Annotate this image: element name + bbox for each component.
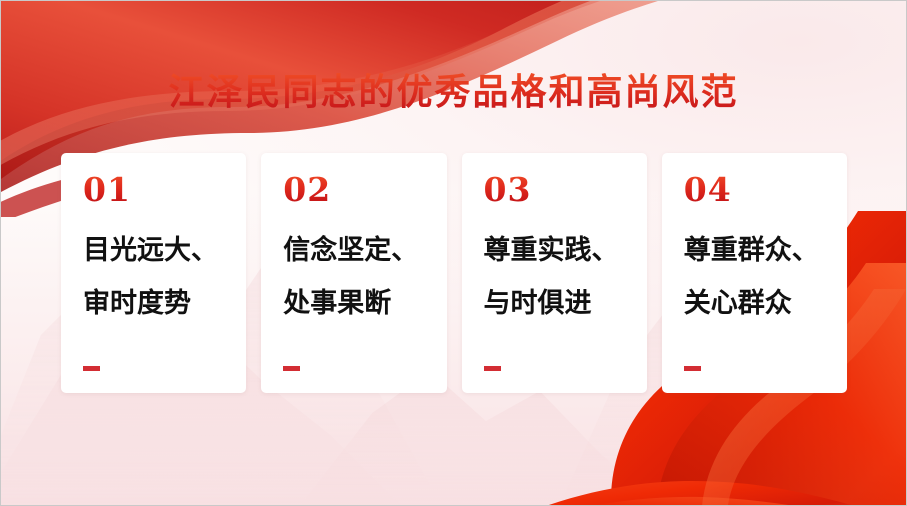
- card-number-01: 01: [83, 173, 246, 206]
- card-dash-01: [83, 366, 100, 371]
- card-dash-04: [684, 366, 701, 371]
- card-text-04: 尊重群众、 关心群众: [684, 224, 847, 330]
- card-dash-03: [484, 366, 501, 371]
- card-dash-02: [283, 366, 300, 371]
- card-number-04: 04: [684, 173, 847, 206]
- card-row: 01 目光远大、 审时度势 02 信念坚定、 处事果断 03 尊重实践、 与时俱…: [61, 153, 847, 393]
- card-text-02: 信念坚定、 处事果断: [283, 224, 446, 330]
- slide-canvas: 江泽民同志的优秀品格和高尚风范 01 目光远大、 审时度势 02 信念坚定、 处…: [0, 0, 907, 506]
- card-text-01: 目光远大、 审时度势: [83, 224, 246, 330]
- card-04[interactable]: 04 尊重群众、 关心群众: [662, 153, 847, 393]
- card-text-03: 尊重实践、 与时俱进: [484, 224, 647, 330]
- card-03[interactable]: 03 尊重实践、 与时俱进: [462, 153, 647, 393]
- card-02[interactable]: 02 信念坚定、 处事果断: [261, 153, 446, 393]
- page-title: 江泽民同志的优秀品格和高尚风范: [1, 73, 906, 113]
- card-01[interactable]: 01 目光远大、 审时度势: [61, 153, 246, 393]
- card-number-02: 02: [283, 173, 446, 206]
- card-number-03: 03: [484, 173, 647, 206]
